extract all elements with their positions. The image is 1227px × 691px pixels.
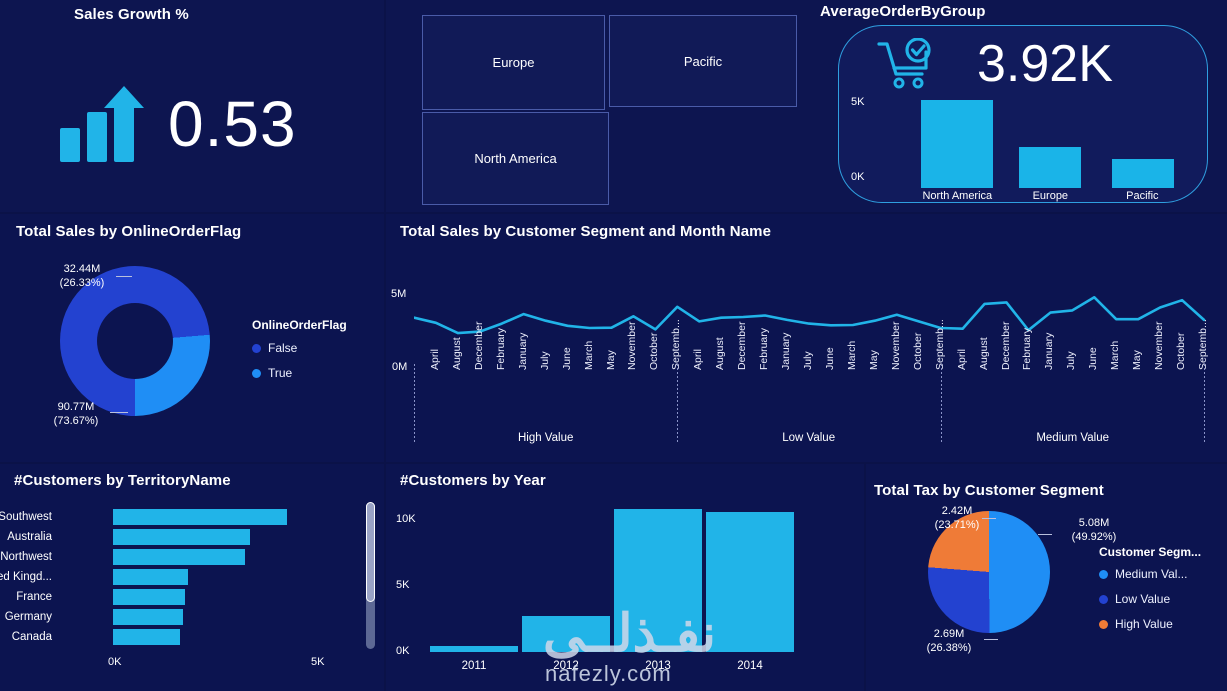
avg-order-title: AverageOrderByGroup [820, 3, 986, 20]
line-x-label: November [890, 322, 902, 370]
slicer-tile-north-america[interactable]: North America [422, 112, 609, 205]
territory-label: Southwest [0, 509, 52, 525]
line-x-label: November [1153, 322, 1165, 370]
year-y-tick-5k: 5K [396, 579, 409, 591]
line-x-label: December [473, 322, 485, 370]
territory-x-tick-0k: 0K [108, 656, 121, 668]
line-x-label: February [1021, 328, 1033, 370]
donut-callout-false-pct: (73.67%) [30, 414, 122, 428]
territory-row[interactable]: Australia [0, 529, 330, 545]
avg-x-label-north-america: North America [911, 190, 1004, 202]
line-segment-divider [1204, 364, 1205, 442]
line-segment-label-medium-value: Medium Value [941, 432, 1204, 444]
line-x-label: January [1043, 333, 1055, 370]
page-title: Sales Growth % [74, 6, 189, 23]
pie-callout-low: 2.69M (26.38%) [906, 627, 992, 655]
territory-bar[interactable] [113, 549, 245, 565]
kpi-value: 0.53 [168, 84, 297, 164]
line-x-label: May [1131, 350, 1143, 370]
donut-chart-title: Total Sales by OnlineOrderFlag [16, 223, 241, 240]
line-x-label: June [561, 347, 573, 370]
donut-leader-line-false [110, 412, 128, 413]
territory-x-tick-5k: 5K [311, 656, 324, 668]
pie-callout-medium-pct: (49.92%) [1051, 530, 1137, 544]
territory-scrollbar-thumb[interactable] [366, 502, 375, 602]
territory-label: Australia [7, 529, 52, 545]
line-x-label: August [451, 337, 463, 370]
line-x-label: January [780, 333, 792, 370]
avg-bar-north-america[interactable] [921, 100, 993, 188]
line-x-label: March [1109, 341, 1121, 370]
territory-bar[interactable] [113, 509, 287, 525]
pie-legend-item-low[interactable]: Low Value [1099, 592, 1201, 606]
pie-callout-medium: 5.08M (49.92%) [1051, 516, 1137, 544]
line-segment-divider [677, 364, 678, 442]
line-x-label: April [429, 349, 441, 370]
pie-callout-medium-value: 5.08M [1051, 516, 1137, 530]
donut-legend-item-false[interactable]: False [252, 341, 347, 355]
line-x-label: February [758, 328, 770, 370]
pie-legend-item-high[interactable]: High Value [1099, 617, 1201, 631]
territory-bar[interactable] [113, 589, 185, 605]
line-x-label: October [648, 333, 660, 370]
watermark-latin: nafezly.com [545, 661, 672, 687]
slicer-tile-pacific[interactable]: Pacific [609, 15, 797, 107]
legend-swatch-icon [1099, 620, 1108, 629]
line-segment-label-low-value: Low Value [677, 432, 940, 444]
line-x-label: April [956, 349, 968, 370]
line-x-label: July [539, 351, 551, 370]
line-segment-label-high-value: High Value [414, 432, 677, 444]
pie-leader-line-high [982, 518, 996, 519]
avg-order-rounded-frame: 3.92K 5K 0K North AmericaEuropePacific [838, 25, 1208, 203]
line-x-label: July [802, 351, 814, 370]
territory-bar[interactable] [113, 529, 250, 545]
line-x-label: August [714, 337, 726, 370]
bar-chart-up-icon [58, 84, 154, 164]
line-x-label: Septemb... [1197, 319, 1209, 370]
watermark-arabic: نفـذلــى [543, 604, 716, 664]
pie-legend-title: Customer Segm... [1099, 545, 1201, 559]
territory-bar[interactable] [113, 609, 183, 625]
pie-legend: Customer Segm... Medium Val... Low Value… [1099, 545, 1201, 642]
line-x-label: May [868, 350, 880, 370]
territory-row[interactable]: Germany [0, 609, 330, 625]
donut-legend-label-false: False [268, 341, 297, 355]
pie-leader-line-low [984, 639, 998, 640]
line-x-label: June [824, 347, 836, 370]
year-y-tick-10k: 10K [396, 513, 416, 525]
total-tax-by-customer-segment-panel: Total Tax by Customer Segment 2.42M (23.… [866, 464, 1227, 691]
line-x-label: March [583, 341, 595, 370]
line-x-label: August [978, 337, 990, 370]
territory-label: Germany [5, 609, 52, 625]
line-x-label: April [692, 349, 704, 370]
territory-label: France [16, 589, 52, 605]
donut-legend-title: OnlineOrderFlag [252, 318, 347, 332]
pie-legend-label-low: Low Value [1115, 592, 1170, 606]
pie-chart-title: Total Tax by Customer Segment [874, 482, 1104, 499]
customers-by-territory-panel: #Customers by TerritoryName SouthwestAus… [0, 464, 384, 691]
donut-callout-true: 32.44M (26.33%) [36, 262, 128, 290]
donut-legend-label-true: True [268, 366, 292, 380]
donut-callout-true-value: 32.44M [36, 262, 128, 276]
line-x-label: January [517, 333, 529, 370]
legend-swatch-icon [252, 344, 261, 353]
territory-chart-title: #Customers by TerritoryName [14, 472, 231, 489]
powerbi-dashboard: Sales Growth % 0.53 Europe Pacific North… [0, 0, 1227, 691]
territory-label: Northwest [0, 549, 52, 565]
line-x-label: December [736, 322, 748, 370]
line-y-tick-0m: 0M [392, 361, 407, 373]
line-x-label: November [626, 322, 638, 370]
territory-bar[interactable] [113, 569, 188, 585]
avg-order-value: 3.92K [977, 34, 1113, 94]
donut-callout-true-pct: (26.33%) [36, 276, 128, 290]
territory-bar[interactable] [113, 629, 180, 645]
avg-bar-europe[interactable] [1019, 147, 1081, 188]
avg-x-label-pacific: Pacific [1096, 190, 1189, 202]
shopping-cart-check-icon [877, 38, 937, 94]
slicer-tile-europe[interactable]: Europe [422, 15, 605, 110]
donut-legend-item-true[interactable]: True [252, 366, 347, 380]
line-x-label: October [1175, 333, 1187, 370]
avg-order-bar-plot [911, 98, 1189, 188]
avg-y-tick-0k: 0K [851, 171, 864, 183]
line-x-label: December [1000, 322, 1012, 370]
sales-growth-kpi-card: Sales Growth % 0.53 [0, 0, 384, 212]
pie-callout-high-value: 2.42M [916, 504, 998, 518]
year-x-label-2014: 2014 [704, 660, 796, 672]
pie-legend-item-medium[interactable]: Medium Val... [1099, 567, 1201, 581]
line-x-label: June [1087, 347, 1099, 370]
territory-row[interactable]: United Kingd... [0, 569, 330, 585]
line-x-label: Septemb... [670, 319, 682, 370]
territory-label: United Kingd... [0, 569, 52, 585]
donut-legend: OnlineOrderFlag False True [252, 318, 347, 391]
legend-swatch-icon [1099, 570, 1108, 579]
line-x-label: March [846, 341, 858, 370]
legend-swatch-icon [252, 369, 261, 378]
pie-legend-label-high: High Value [1115, 617, 1173, 631]
territory-row[interactable]: Southwest [0, 509, 330, 525]
year-bar-2014[interactable] [706, 512, 794, 652]
territory-scrollbar[interactable] [366, 502, 375, 649]
year-bar-2011[interactable] [430, 646, 518, 652]
total-sales-by-onlineorderflag-panel: Total Sales by OnlineOrderFlag 32.44M (2… [0, 214, 384, 462]
pie-callout-low-pct: (26.38%) [906, 641, 992, 655]
total-sales-by-segment-month-panel: Total Sales by Customer Segment and Mont… [386, 214, 1227, 462]
territory-row[interactable]: France [0, 589, 330, 605]
line-x-label: May [605, 350, 617, 370]
year-x-label-2011: 2011 [428, 660, 520, 672]
line-x-label: Septemb... [934, 319, 946, 370]
line-segment-divider [941, 364, 942, 442]
line-x-label: July [1065, 351, 1077, 370]
line-segment-divider [414, 364, 415, 442]
pie-callout-high-pct: (23.71%) [916, 518, 998, 532]
pie-legend-label-medium: Medium Val... [1115, 567, 1187, 581]
average-order-by-group-card: AverageOrderByGroup 3.92K 5K 0K North Am… [818, 0, 1227, 212]
territory-row[interactable]: Canada [0, 629, 330, 645]
line-y-tick-5m: 5M [391, 288, 406, 300]
pie-leader-line-medium [1038, 534, 1052, 535]
territory-group-slicer[interactable]: Europe Pacific North America [386, 0, 818, 212]
line-x-label: February [495, 328, 507, 370]
avg-x-label-europe: Europe [1004, 190, 1097, 202]
year-y-tick-0k: 0K [396, 645, 409, 657]
legend-swatch-icon [1099, 595, 1108, 604]
pie-callout-low-value: 2.69M [906, 627, 992, 641]
line-x-label: October [912, 333, 924, 370]
avg-y-tick-5k: 5K [851, 96, 864, 108]
territory-label: Canada [12, 629, 52, 645]
donut-callout-false-value: 90.77M [30, 400, 122, 414]
donut-callout-false: 90.77M (73.67%) [30, 400, 122, 428]
territory-row[interactable]: Northwest [0, 549, 330, 565]
donut-leader-line-true [116, 276, 132, 277]
avg-bar-pacific[interactable] [1112, 159, 1174, 188]
